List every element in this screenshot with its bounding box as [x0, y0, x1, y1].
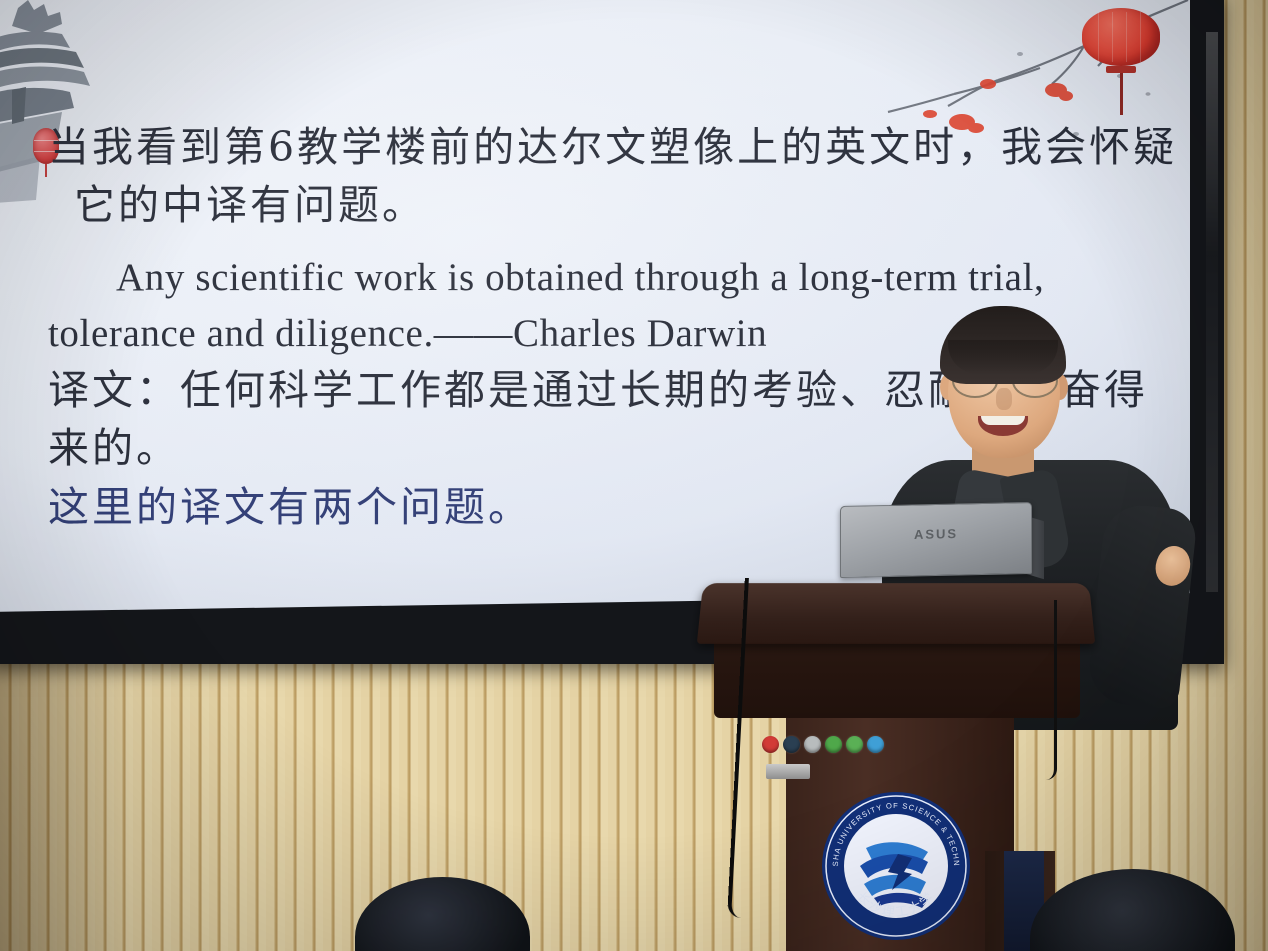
- large-lantern-icon: [1082, 8, 1160, 118]
- volume-down-button[interactable]: [825, 736, 842, 753]
- volume-up-button[interactable]: [846, 736, 863, 753]
- slide-line-cn1: 当我看到第6教学楼前的达尔文塑像上的英文时，我会怀疑: [48, 118, 1168, 176]
- podium-cable-secondary: [1046, 600, 1057, 780]
- lecturer-hair: [940, 306, 1066, 384]
- source-button[interactable]: [783, 736, 800, 753]
- network-button[interactable]: [867, 736, 884, 753]
- mute-button[interactable]: [804, 736, 821, 753]
- lecture-hall-photo: 当我看到第6教学楼前的达尔文塑像上的英文时，我会怀疑 它的中译有问题。 Any …: [0, 0, 1268, 951]
- university-emblem: CHANGSHA UNIVERSITY OF SCIENCE & TECHNOL…: [816, 786, 976, 946]
- podium-front-panel: [714, 634, 1080, 718]
- podium-card-reader[interactable]: [766, 764, 810, 779]
- slide-line-en1: Any scientific work is obtained through …: [48, 250, 1168, 305]
- laptop-brand-label: ASUS: [914, 526, 958, 542]
- power-button[interactable]: [762, 736, 779, 753]
- podium-control-panel[interactable]: [762, 736, 884, 753]
- bezel-glare: [1206, 32, 1218, 592]
- slide-line-cn2: 它的中译有问题。: [48, 176, 1168, 234]
